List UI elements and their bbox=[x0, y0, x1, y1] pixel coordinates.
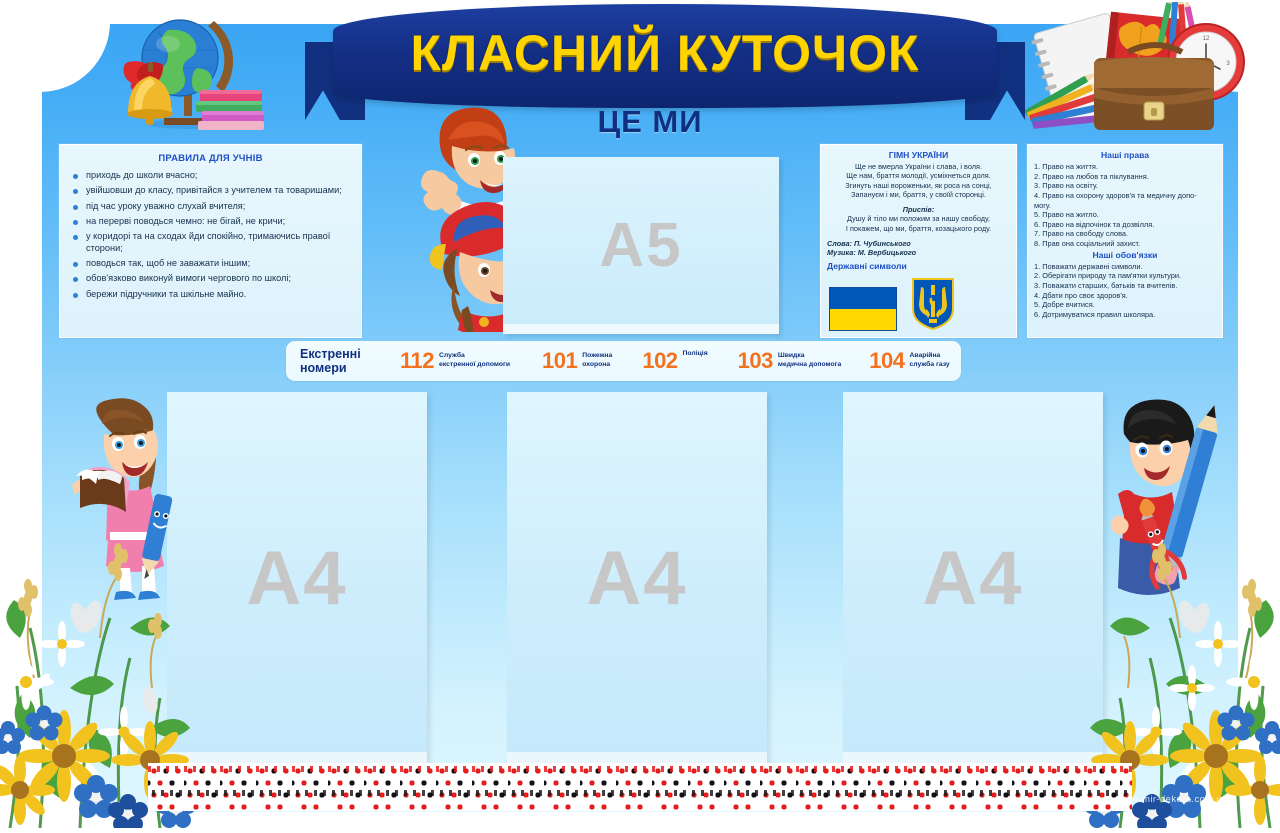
emergency-number: 101 bbox=[542, 348, 577, 374]
board-corner-topleft bbox=[40, 22, 110, 92]
document-pocket-a4-3[interactable]: A4 bbox=[843, 392, 1103, 764]
emergency-number: 104 bbox=[869, 348, 904, 374]
ukraine-flag-icon bbox=[829, 287, 897, 331]
anthem-verse-line: Запануєм і ми, браття, у своїй сторонці. bbox=[827, 190, 1010, 199]
anthem-verse-line: Ще не вмерла України і слава, і воля. bbox=[827, 162, 1010, 171]
list-item: під час уроку уважно слухай вчителя; bbox=[70, 201, 351, 213]
list-item: 6. Право на відпочінок та дозвілля. bbox=[1034, 220, 1216, 230]
list-item: 3. Право на освіту. bbox=[1034, 181, 1216, 191]
list-item: 6. Дотримуватися правил школяра. bbox=[1034, 310, 1216, 320]
pocket-size-label: A4 bbox=[843, 392, 1103, 764]
document-pocket-a4-1[interactable]: A4 bbox=[167, 392, 427, 764]
anthem-music-credit: Музика: М. Вербицького bbox=[827, 248, 1010, 257]
anthem-refrain-line: І покажем, що ми, браття, козацького род… bbox=[827, 224, 1010, 233]
list-item: обов'язково виконуй вимоги чергового по … bbox=[70, 273, 351, 285]
emergency-entry-112: 112 Служба екстренної допомоги bbox=[400, 348, 510, 374]
rules-panel: ПРАВИЛА ДЛЯ УЧНІВ приходь до школи вчасн… bbox=[59, 144, 362, 338]
document-pocket-a4-2[interactable]: A4 bbox=[507, 392, 767, 764]
emergency-entry-104: 104 Аварійна служба газу bbox=[869, 348, 949, 374]
emergency-desc: Поліція bbox=[683, 350, 708, 359]
emergency-numbers-bar: Екстренні номери 112 Служба екстренної д… bbox=[286, 341, 961, 381]
rules-list: приходь до школи вчасно; увійшовши до кл… bbox=[70, 170, 351, 300]
pocket-lip bbox=[503, 324, 779, 334]
list-item: 4. Дбати про своє здоров'я. bbox=[1034, 291, 1216, 301]
list-item: 8. Прав она соціальний захист. bbox=[1034, 239, 1216, 249]
list-item: 3. Поважати старших, батьків та вчителів… bbox=[1034, 281, 1216, 291]
list-item: приходь до школи вчасно; bbox=[70, 170, 351, 182]
rights-title: Наші права bbox=[1034, 150, 1216, 160]
anthem-verse-line: Ще нам, браття молодії, усміхнеться доля… bbox=[827, 171, 1010, 180]
list-item: 2. Оберігати природу та пам'ятки культур… bbox=[1034, 271, 1216, 281]
board-corner-bottomleft bbox=[40, 742, 110, 812]
emergency-desc: Служба екстренної допомоги bbox=[439, 352, 510, 369]
list-item: 2. Право на любов та піклування. bbox=[1034, 172, 1216, 182]
list-item: на перерві поводься чемно: не бігай, не … bbox=[70, 216, 351, 228]
list-item: 7. Право на свободу слова. bbox=[1034, 229, 1216, 239]
state-symbols-row bbox=[829, 277, 955, 331]
emergency-entry-101: 101 Пожежна охорона bbox=[542, 348, 612, 374]
list-item: 5. Добре вчитися. bbox=[1034, 300, 1216, 310]
poster-canvas: 12369 КЛАСНИЙ КУТОЧОК ЦЕ МИ ПРАВИЛА ДЛЯ … bbox=[0, 0, 1280, 833]
margin-left bbox=[0, 0, 42, 833]
anthem-panel: ГІМН УКРАЇНИ Ще не вмерла України і слав… bbox=[820, 144, 1017, 338]
photo-pocket-a5[interactable]: A5 bbox=[503, 157, 779, 334]
board-corner-topright bbox=[1170, 22, 1240, 92]
page-title: КЛАСНИЙ КУТОЧОК bbox=[333, 4, 997, 108]
pocket-size-label: A5 bbox=[503, 157, 779, 334]
list-item: 1. Поважати державні символи. bbox=[1034, 262, 1216, 272]
anthem-verse-line: Згинуть наші вороженьки, як роса на сонц… bbox=[827, 181, 1010, 190]
pocket-size-label: A4 bbox=[507, 392, 767, 764]
list-item: 1. Право на життя. bbox=[1034, 162, 1216, 172]
emergency-desc: Пожежна охорона bbox=[582, 352, 612, 369]
list-item: у коридорі та на сходах йди спокійно, тр… bbox=[70, 231, 351, 255]
list-item: увійшовши до класу, привітайся з учителе… bbox=[70, 185, 351, 197]
emergency-label-line1: Екстренні bbox=[300, 347, 374, 361]
emergency-label-line2: номери bbox=[300, 361, 374, 375]
section-title-ce-my: ЦЕ МИ bbox=[515, 104, 785, 140]
emergency-entry-102: 102 Поліція bbox=[642, 348, 707, 374]
emergency-number: 112 bbox=[400, 348, 434, 374]
emergency-label: Екстренні номери bbox=[300, 347, 374, 375]
list-item: могу. bbox=[1034, 201, 1216, 211]
emergency-desc: Швидка медична допомога bbox=[778, 352, 841, 369]
banner-body: КЛАСНИЙ КУТОЧОК bbox=[333, 4, 997, 108]
emergency-number: 102 bbox=[642, 348, 677, 374]
list-item: поводься так, щоб не заважати іншим; bbox=[70, 258, 351, 270]
anthem-refrain-line: Душу й тіло ми положим за нашу свободу, bbox=[827, 214, 1010, 223]
margin-bottom bbox=[0, 813, 1280, 833]
duties-title: Наші обов'язки bbox=[1034, 250, 1216, 260]
list-item: бережи підручники та шкільне майно. bbox=[70, 289, 351, 301]
watermark: www.mir-dekora.com.ua bbox=[1118, 794, 1228, 805]
embroidery-border bbox=[148, 763, 1132, 811]
list-item: 4. Право на охорону здоров'я та медичну … bbox=[1034, 191, 1216, 201]
emergency-desc: Аварійна служба газу bbox=[909, 352, 949, 369]
margin-right bbox=[1238, 0, 1280, 833]
emergency-entry-103: 103 Швидка медична допомога bbox=[738, 348, 842, 374]
anthem-title: ГІМН УКРАЇНИ bbox=[827, 150, 1010, 160]
ukraine-coat-of-arms-icon bbox=[911, 277, 955, 331]
rights-duties-panel: Наші права 1. Право на життя. 2. Право н… bbox=[1027, 144, 1223, 338]
list-item: 5. Право на житло. bbox=[1034, 210, 1216, 220]
anthem-lyrics-credit: Слова: П. Чубинського bbox=[827, 239, 1010, 248]
rules-title: ПРАВИЛА ДЛЯ УЧНІВ bbox=[70, 153, 351, 164]
anthem-refrain-label: Приспів: bbox=[827, 205, 1010, 214]
pocket-size-label: A4 bbox=[167, 392, 427, 764]
emergency-number: 103 bbox=[738, 348, 773, 374]
state-symbols-title: Державні символи bbox=[827, 261, 1010, 271]
